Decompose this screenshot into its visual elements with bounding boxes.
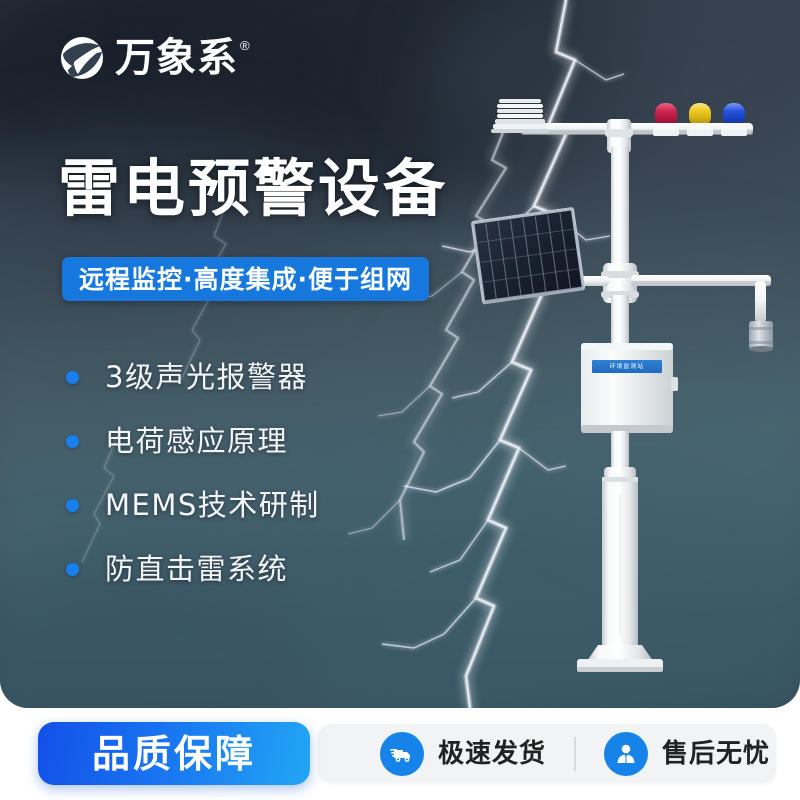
brand-logo: 万象系 ®	[58, 34, 250, 82]
product-image-weather-station: 环境监测站	[455, 95, 795, 690]
solar-panel	[471, 207, 586, 305]
feature-item: 3级声光报警器	[66, 345, 320, 409]
feature-list: 3级声光报警器 电荷感应原理 MEMS技术研制 防直击雷系统	[66, 345, 320, 601]
blue-dot-icon	[66, 563, 79, 576]
blue-dot-icon	[66, 435, 79, 448]
blue-dot-icon	[66, 371, 79, 384]
service-pill: 极速发货 售后无忧	[318, 724, 776, 783]
hero-banner: 万象系 ® 雷电预警设备 远程监控·高度集成·便于组网 3级声光报警器 电荷感应…	[0, 0, 800, 708]
leaf-sphere-logo-icon	[58, 34, 106, 82]
registered-trademark-icon: ®	[240, 39, 250, 52]
brand-name: 万象系	[115, 38, 238, 78]
support-agent-icon	[604, 732, 648, 776]
alarm-light-cluster	[653, 103, 747, 136]
service-label: 售后无忧	[662, 741, 770, 767]
service-label: 极速发货	[438, 741, 546, 767]
delivery-truck-icon	[380, 732, 424, 776]
radiation-shield-sensor	[491, 99, 549, 133]
feature-item: 防直击雷系统	[66, 537, 320, 601]
quality-assurance-label: 品质保障	[92, 735, 256, 773]
subtitle-banner: 远程监控·高度集成·便于组网	[62, 257, 429, 301]
feature-label: 3级声光报警器	[105, 363, 308, 392]
feature-item: MEMS技术研制	[66, 473, 320, 537]
service-item-after-sales[interactable]: 售后无忧	[604, 732, 770, 776]
quality-assurance-badge[interactable]: 品质保障	[38, 722, 310, 785]
control-box	[581, 343, 678, 433]
base-plate	[577, 645, 663, 672]
trust-bar: 品质保障 极速发货	[0, 708, 800, 800]
control-box-label: 环境监测站	[592, 360, 662, 373]
control-box-label-text: 环境监测站	[610, 364, 645, 370]
feature-label: 电荷感应原理	[105, 427, 288, 456]
subtitle-text: 远程监控·高度集成·便于组网	[79, 267, 412, 292]
rain-gauge-sensor	[749, 321, 773, 352]
blue-dot-icon	[66, 499, 79, 512]
feature-label: 防直击雷系统	[105, 555, 288, 584]
feature-label: MEMS技术研制	[105, 491, 320, 520]
service-divider	[574, 737, 576, 771]
feature-item: 电荷感应原理	[66, 409, 320, 473]
service-item-fast-shipping[interactable]: 极速发货	[380, 732, 546, 776]
page-title: 雷电预警设备	[58, 156, 448, 223]
